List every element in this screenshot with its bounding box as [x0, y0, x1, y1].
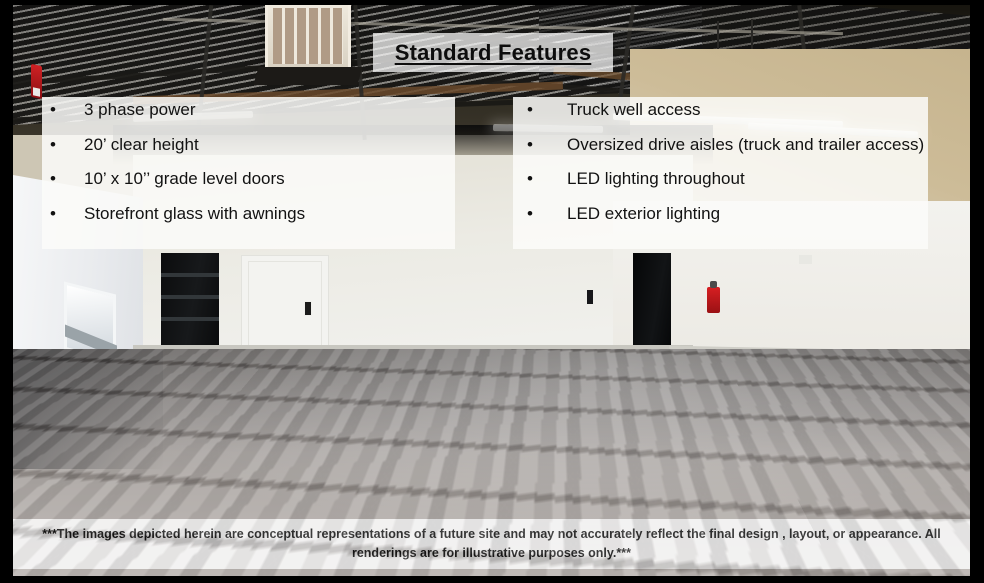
- list-item: • 3 phase power: [42, 101, 455, 136]
- presentation-slide: Standard Features • 3 phase power • 20’ …: [0, 0, 984, 583]
- feature-text: LED exterior lighting: [567, 205, 720, 222]
- door-panel-line: [161, 317, 219, 321]
- hvac-grille-icon: [273, 8, 343, 64]
- wall-panel: [241, 255, 329, 352]
- bullet-icon: •: [527, 101, 567, 118]
- slide-title: Standard Features: [395, 40, 592, 66]
- list-item: • LED exterior lighting: [513, 205, 928, 240]
- disclaimer-bar: ***The images depicted herein are concep…: [13, 519, 970, 569]
- bullet-icon: •: [50, 101, 84, 118]
- frame-border-top: [0, 0, 984, 5]
- feature-list-left: • 3 phase power • 20’ clear height • 10’…: [42, 101, 455, 239]
- door-panel-line: [161, 273, 219, 277]
- warehouse-interior-photo: [13, 5, 970, 576]
- grade-level-door-right: [633, 253, 671, 353]
- fire-extinguisher-icon: [707, 287, 720, 313]
- grade-level-door-left: [161, 253, 219, 349]
- feature-text: 10’ x 10’’ grade level doors: [84, 170, 285, 187]
- light-switch-icon: [304, 301, 312, 316]
- light-switch-icon: [587, 290, 593, 304]
- frame-border-bottom: [0, 576, 984, 583]
- list-item: • Storefront glass with awnings: [42, 205, 455, 240]
- door-panel-line: [161, 295, 219, 299]
- features-panel-right: • Truck well access • Oversized drive ai…: [513, 97, 928, 249]
- floor-shadow: [13, 349, 163, 469]
- list-item: • Truck well access: [513, 101, 928, 136]
- list-item: • Oversized drive aisles (truck and trai…: [513, 136, 928, 171]
- feature-text: 20’ clear height: [84, 136, 199, 153]
- feature-text: LED lighting throughout: [567, 170, 745, 187]
- exit-sign-icon: [799, 255, 812, 264]
- bullet-icon: •: [50, 170, 84, 187]
- bullet-icon: •: [527, 205, 567, 222]
- slide-title-box: Standard Features: [373, 33, 613, 72]
- list-item: • 20’ clear height: [42, 136, 455, 171]
- bullet-icon: •: [50, 136, 84, 153]
- hvac-hanger-icon: [751, 19, 753, 51]
- feature-text: Oversized drive aisles (truck and traile…: [567, 136, 924, 153]
- bullet-icon: •: [527, 170, 567, 187]
- feature-text: 3 phase power: [84, 101, 196, 118]
- feature-list-right: • Truck well access • Oversized drive ai…: [513, 101, 928, 239]
- frame-border-left: [0, 0, 13, 583]
- fire-alarm-icon: [31, 64, 42, 99]
- features-panel-left: • 3 phase power • 20’ clear height • 10’…: [42, 97, 455, 249]
- feature-text: Storefront glass with awnings: [84, 205, 305, 222]
- list-item: • LED lighting throughout: [513, 170, 928, 205]
- hvac-base-icon: [253, 67, 362, 85]
- frame-border-right: [970, 0, 984, 583]
- list-item: • 10’ x 10’’ grade level doors: [42, 170, 455, 205]
- feature-text: Truck well access: [567, 101, 701, 118]
- bullet-icon: •: [527, 136, 567, 153]
- bullet-icon: •: [50, 205, 84, 222]
- disclaimer-text: ***The images depicted herein are concep…: [13, 525, 970, 564]
- hvac-unit-icon: [265, 5, 351, 72]
